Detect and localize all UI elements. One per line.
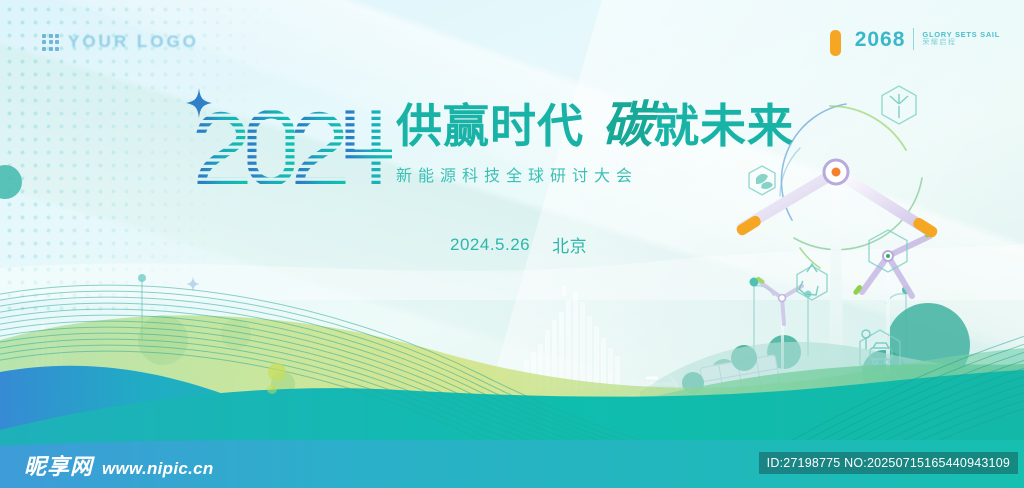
dot-grid-icon	[42, 34, 59, 51]
brand-number: 2068	[855, 29, 906, 50]
event-city: 北京	[552, 232, 587, 257]
year-graphic	[196, 104, 392, 188]
headline-block: 供赢时代 碳 就未来 新能源科技全球研讨大会	[396, 100, 794, 186]
headline-part2-carbon: 碳	[602, 100, 651, 150]
poster-canvas: YOUR LOGO 2068 GLORY SETS SAIL 荣耀启程	[0, 0, 1024, 488]
headline-subtitle: 新能源科技全球研讨大会	[396, 162, 794, 186]
brand-chinese-tagline: 荣耀启程	[922, 39, 1000, 47]
event-date: 2024.5.26	[450, 235, 530, 255]
logo-text: YOUR LOGO	[68, 32, 199, 52]
brand-english-tagline: GLORY SETS SAIL	[922, 31, 1000, 40]
asset-id-text: ID:27198775 NO:20250715165440943109	[767, 456, 1010, 470]
brand-mark: 2068 GLORY SETS SAIL 荣耀启程	[855, 28, 1000, 50]
watermark-site-url: www.nipic.cn	[102, 459, 214, 479]
headline-part1: 供赢时代	[396, 103, 584, 149]
event-datetime-row: 2024.5.26 北京	[450, 232, 587, 257]
watermark-site-cn: 昵享网	[24, 449, 93, 481]
client-logo-placeholder[interactable]: YOUR LOGO	[42, 32, 199, 52]
watermark-brand: 昵享网 www.nipic.cn	[24, 449, 214, 481]
brand-divider	[913, 28, 914, 50]
asset-id-badge: ID:27198775 NO:20250715165440943109	[759, 452, 1018, 474]
headline-part3: 就未来	[653, 103, 794, 149]
